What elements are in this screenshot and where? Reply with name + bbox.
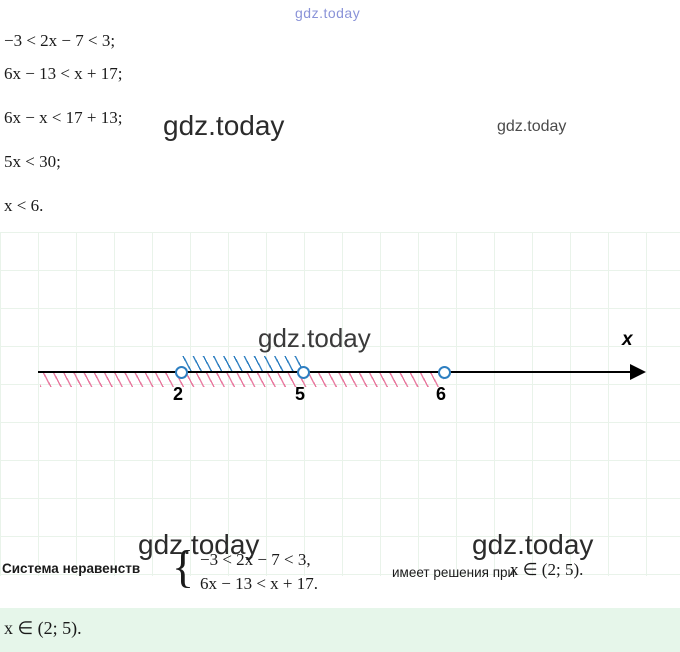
point-label-2: 2	[173, 384, 183, 405]
system-row-1: −3 < 2x − 7 < 3,	[200, 550, 311, 570]
number-line-diagram: gdz.today x 2 5 6	[0, 232, 680, 576]
system-row-2: 6x − 13 < x + 17.	[200, 574, 318, 594]
point-label-6: 6	[436, 384, 446, 405]
hatching-pink-below-axis	[40, 373, 444, 387]
watermark-big-2: gdz.today	[258, 323, 371, 354]
conclusion-middle-text: имеет решения при	[392, 565, 515, 580]
hatching-blue-above-axis	[180, 356, 302, 371]
point-label-5: 5	[295, 384, 305, 405]
axis-line	[38, 371, 634, 373]
solution-step-2: 6x − 13 < x + 17;	[4, 64, 123, 84]
solution-step-3: 6x − x < 17 + 13;	[4, 108, 123, 128]
conclusion-solution-set: x ∈ (2; 5).	[510, 560, 583, 580]
solution-step-4: 5x < 30;	[4, 152, 61, 172]
system-brace: {	[172, 544, 194, 590]
answer-band: x ∈ (2; 5).	[0, 608, 680, 652]
solution-step-1: −3 < 2x − 7 < 3;	[4, 31, 115, 51]
watermark-big-1: gdz.today	[163, 110, 284, 142]
solution-step-5: x < 6.	[4, 196, 43, 216]
point-marker-6	[438, 366, 451, 379]
watermark-small-1: gdz.today	[497, 118, 566, 136]
answer-text: x ∈ (2; 5).	[4, 618, 82, 639]
point-marker-2	[175, 366, 188, 379]
point-marker-5	[297, 366, 310, 379]
axis-arrow-icon	[630, 364, 646, 380]
watermark-top: gdz.today	[295, 5, 360, 21]
conclusion-label: Система неравенств	[2, 561, 140, 576]
axis-label-x: x	[622, 329, 633, 351]
conclusion-row: Система неравенств { −3 < 2x − 7 < 3, 6x…	[0, 548, 680, 596]
